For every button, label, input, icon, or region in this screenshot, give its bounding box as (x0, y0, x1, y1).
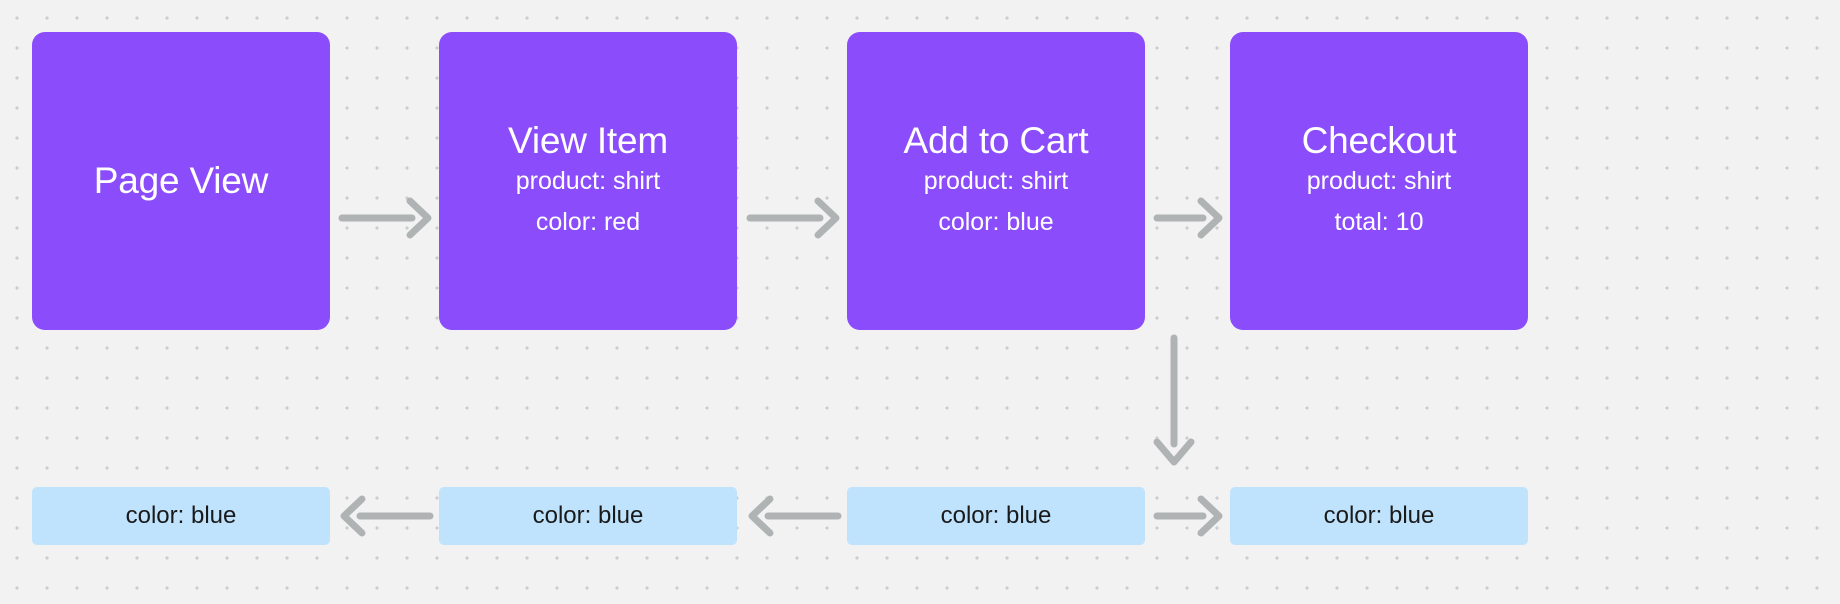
property-node-label: color: blue (126, 504, 237, 528)
event-node-add-to-cart[interactable]: Add to Cart product: shirt color: blue (847, 32, 1145, 330)
event-node-title: View Item (508, 120, 668, 161)
event-node-property: color: red (536, 202, 640, 243)
property-node-2[interactable]: color: blue (439, 487, 737, 545)
edge-arrow-viewitem-to-addtocart (748, 196, 840, 240)
edge-arrow-property3-to-property4 (1155, 494, 1223, 538)
property-node-label: color: blue (533, 504, 644, 528)
event-node-property: product: shirt (516, 161, 661, 202)
event-node-checkout[interactable]: Checkout product: shirt total: 10 (1230, 32, 1528, 330)
event-node-title: Add to Cart (904, 120, 1089, 161)
property-node-label: color: blue (1324, 504, 1435, 528)
event-node-property: product: shirt (924, 161, 1069, 202)
property-node-4[interactable]: color: blue (1230, 487, 1528, 545)
event-node-property: product: shirt (1307, 161, 1452, 202)
edge-arrow-pageview-to-viewitem (340, 196, 432, 240)
edge-arrow-addtocart-to-property3 (1152, 336, 1196, 468)
event-node-view-item[interactable]: View Item product: shirt color: red (439, 32, 737, 330)
flow-canvas[interactable]: Page View View Item product: shirt color… (0, 0, 1840, 604)
property-node-3[interactable]: color: blue (847, 487, 1145, 545)
edge-arrow-property3-to-property2 (748, 494, 840, 538)
event-node-title: Checkout (1302, 120, 1457, 161)
edge-arrow-property2-to-property1 (340, 494, 432, 538)
event-node-property: total: 10 (1335, 202, 1424, 243)
property-node-1[interactable]: color: blue (32, 487, 330, 545)
property-node-label: color: blue (941, 504, 1052, 528)
event-node-page-view[interactable]: Page View (32, 32, 330, 330)
edge-arrow-addtocart-to-checkout (1155, 196, 1223, 240)
event-node-title: Page View (94, 160, 268, 201)
event-node-property: color: blue (938, 202, 1053, 243)
